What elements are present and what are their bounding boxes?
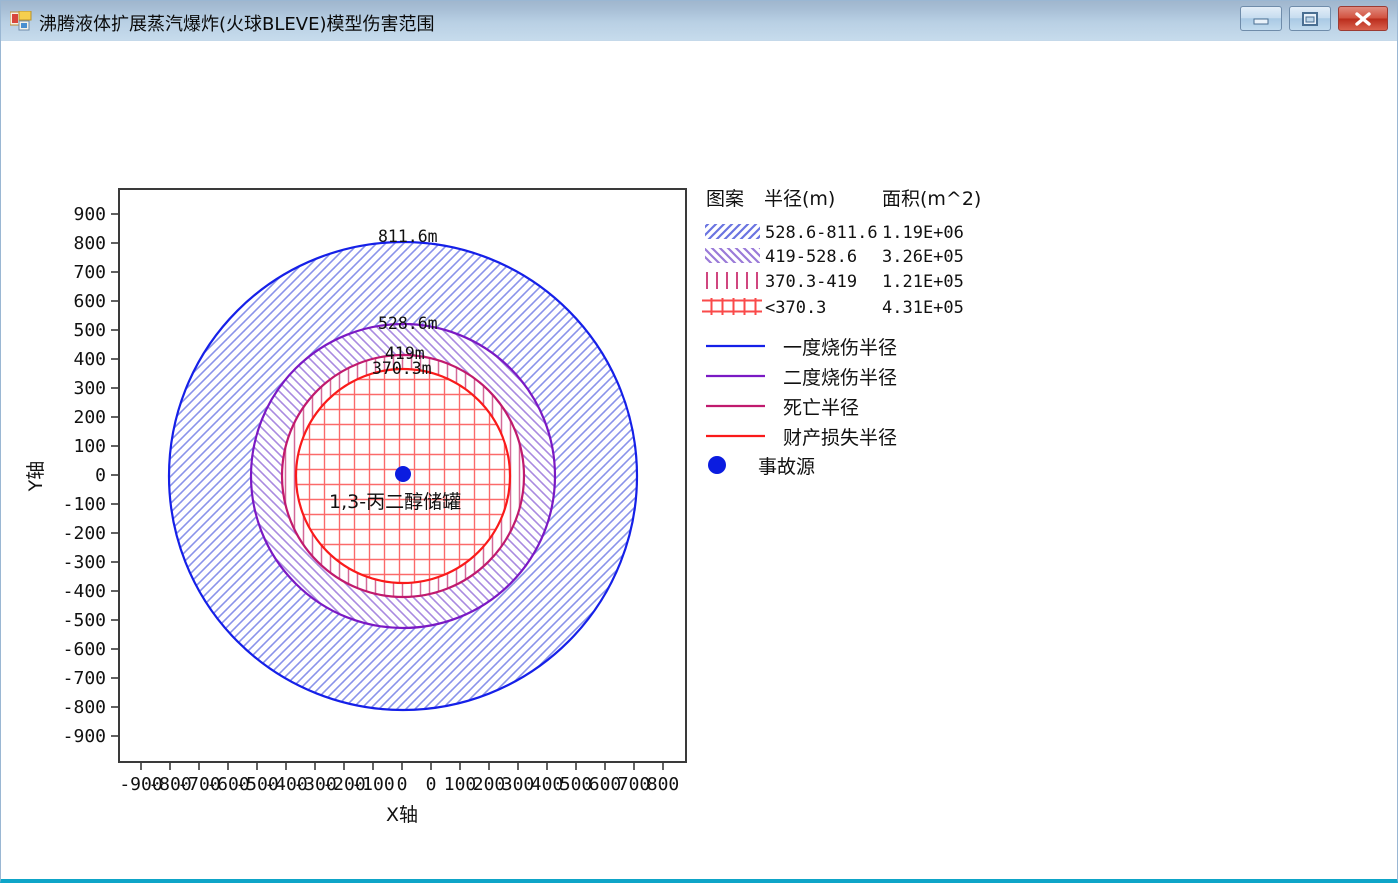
svg-text:-100: -100 [63,494,106,515]
svg-text:-800: -800 [63,697,106,718]
form-icon [10,11,32,31]
svg-text:800: 800 [647,774,680,795]
svg-text:900: 900 [73,204,106,225]
legend-radius-value: 370.3-419 [765,272,857,292]
legend-swatch-back-diagonal [705,248,760,263]
svg-text:-900: -900 [63,726,106,747]
legend-swatch-vertical [705,272,760,289]
svg-text:300: 300 [502,774,535,795]
svg-text:600: 600 [73,291,106,312]
svg-text:-200: -200 [63,523,106,544]
close-button[interactable] [1338,6,1388,31]
legend-row: 419-528.6 3.26E+05 [705,247,964,267]
svg-text:-700: -700 [63,668,106,689]
label-370-3m: 370.3m [372,359,432,378]
legend-marker-dot [708,456,726,474]
legend-area-value: 3.26E+05 [882,247,964,267]
label-528-6m: 528.6m [378,314,438,333]
center-tank-label: 1,3-丙二醇储罐 [329,491,461,513]
legend-header-pattern: 图案 [706,188,744,210]
legend-line-label: 一度烧伤半径 [783,337,897,359]
svg-text:800: 800 [73,233,106,254]
y-tick-labels: 900 800 700 600 500 400 300 200 100 0 -1… [63,204,106,747]
legend-line-item: 死亡半径 [706,397,859,419]
legend-row: 370.3-419 1.21E+05 [705,272,964,292]
svg-text:600: 600 [589,774,622,795]
legend-row: <370.3 4.31E+05 [702,298,964,318]
y-axis-title: Y轴 [25,461,47,493]
svg-text:100: 100 [73,436,106,457]
svg-text:-500: -500 [63,610,106,631]
svg-text:200: 200 [73,407,106,428]
legend-line-item: 二度烧伤半径 [706,367,897,389]
legend-area-value: 4.31E+05 [882,298,964,318]
label-811-6m: 811.6m [378,227,438,246]
svg-text:400: 400 [531,774,564,795]
svg-text:100: 100 [444,774,477,795]
x-axis-title: X轴 [386,804,418,826]
legend-marker-label: 事故源 [758,456,815,478]
legend-radius-value: <370.3 [765,298,826,318]
legend-row: 528.6-811.6 1.19E+06 [705,223,964,243]
legend-line-label: 财产损失半径 [783,427,897,449]
legend-marker-item: 事故源 [708,456,815,478]
legend-swatch-cross [702,298,762,315]
legend-line-label: 二度烧伤半径 [783,367,897,389]
legend-radius-value: 528.6-811.6 [765,223,878,243]
legend-area-value: 1.19E+06 [882,223,964,243]
svg-text:-100: -100 [351,774,394,795]
svg-text:700: 700 [618,774,651,795]
svg-text:500: 500 [560,774,593,795]
svg-text:200: 200 [473,774,506,795]
svg-text:0: 0 [397,774,408,795]
window-title: 沸腾液体扩展蒸汽爆炸(火球BLEVE)模型伤害范围 [39,10,434,36]
legend-radius-value: 419-528.6 [765,247,857,267]
accident-source-marker [395,466,411,482]
svg-text:0: 0 [95,465,106,486]
legend-line-label: 死亡半径 [783,397,859,419]
title-bar[interactable]: 沸腾液体扩展蒸汽爆炸(火球BLEVE)模型伤害范围 [1,1,1397,41]
svg-text:700: 700 [73,262,106,283]
maximize-button[interactable] [1289,6,1331,31]
svg-text:-600: -600 [63,639,106,660]
y-axis: 900 800 700 600 500 400 300 200 100 0 -1… [25,204,119,747]
x-axis: -900 -800 -700 -600 -500 -400 -300 -200 … [119,762,679,826]
svg-text:-300: -300 [63,552,106,573]
legend-line-item: 财产损失半径 [706,427,897,449]
x-tick-labels: -900 -800 -700 -600 -500 -400 -300 -200 … [119,774,679,795]
legend-header-area: 面积(m^2) [882,188,981,210]
legend-area-value: 1.21E+05 [882,272,964,292]
svg-text:0: 0 [426,774,437,795]
svg-text:500: 500 [73,320,106,341]
minimize-button[interactable] [1240,6,1282,31]
svg-text:-400: -400 [63,581,106,602]
legend-line-item: 一度烧伤半径 [706,337,897,359]
plot-svg: 811.6m 528.6m 419m 370.3m 1,3-丙二醇储罐 [2,42,1396,879]
legend-header-radius: 半径(m) [764,188,835,210]
client-area: 811.6m 528.6m 419m 370.3m 1,3-丙二醇储罐 [2,42,1396,879]
legend-swatch-forward-diagonal [705,224,760,239]
svg-text:300: 300 [73,378,106,399]
svg-text:400: 400 [73,349,106,370]
application-window: 沸腾液体扩展蒸汽爆炸(火球BLEVE)模型伤害范围 [0,0,1398,883]
damage-range-plot: 811.6m 528.6m 419m 370.3m 1,3-丙二醇储罐 [2,42,1396,879]
legend: 图案 半径(m) 面积(m^2) 528.6-811.6 1.19E+06 41… [702,188,981,478]
